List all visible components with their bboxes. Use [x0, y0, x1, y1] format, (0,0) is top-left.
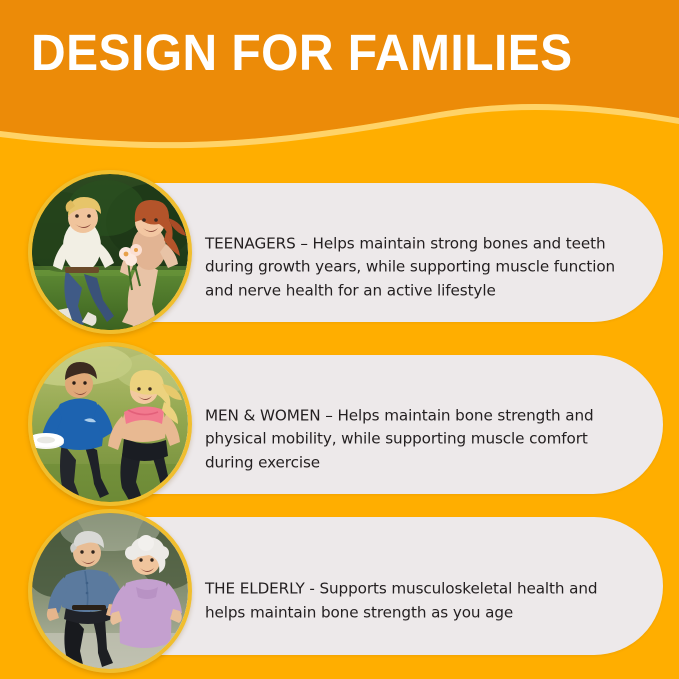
photo-elderly-couple-walking [28, 509, 192, 673]
photo-couple-exercising [28, 342, 192, 506]
benefit-text: THE ELDERLY - Supports musculoskeletal h… [205, 578, 623, 625]
benefit-text: MEN & WOMEN – Helps maintain bone streng… [205, 404, 623, 475]
design-for-families-poster: DESIGN FOR FAMILIES TEENAGERS – Helps ma… [0, 0, 679, 679]
page-title: DESIGN FOR FAMILIES [31, 24, 573, 82]
photo-teenagers-running [28, 170, 192, 334]
benefit-rows: TEENAGERS – Helps maintain strong bones … [0, 0, 679, 679]
benefit-text: TEENAGERS – Helps maintain strong bones … [205, 232, 623, 303]
